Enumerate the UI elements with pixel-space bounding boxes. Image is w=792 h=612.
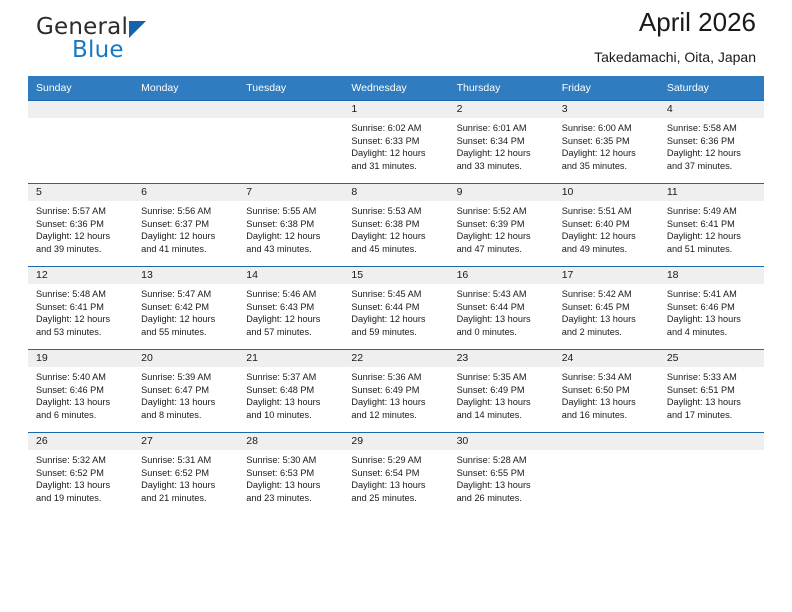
sunset-text: Sunset: 6:46 PM <box>667 301 758 314</box>
day-details: Sunrise: 5:29 AMSunset: 6:54 PMDaylight:… <box>343 450 448 504</box>
daylight-text-line2: and 37 minutes. <box>667 160 758 173</box>
daylight-text-line1: Daylight: 13 hours <box>246 396 337 409</box>
day-details: Sunrise: 5:37 AMSunset: 6:48 PMDaylight:… <box>238 367 343 421</box>
sunset-text: Sunset: 6:33 PM <box>351 135 442 148</box>
weekday-header-monday: Monday <box>133 76 238 101</box>
daylight-text-line2: and 17 minutes. <box>667 409 758 422</box>
day-number: 4 <box>659 101 764 118</box>
calendar-cell-empty <box>659 433 764 516</box>
daylight-text-line2: and 25 minutes. <box>351 492 442 505</box>
day-number <box>554 433 659 450</box>
day-number: 20 <box>133 350 238 367</box>
sunset-text: Sunset: 6:42 PM <box>141 301 232 314</box>
page-title: April 2026 <box>594 8 756 38</box>
sunrise-text: Sunrise: 5:28 AM <box>457 454 548 467</box>
calendar-week-row: 12Sunrise: 5:48 AMSunset: 6:41 PMDayligh… <box>28 267 764 350</box>
day-number: 15 <box>343 267 448 284</box>
day-details: Sunrise: 5:30 AMSunset: 6:53 PMDaylight:… <box>238 450 343 504</box>
day-details: Sunrise: 5:49 AMSunset: 6:41 PMDaylight:… <box>659 201 764 255</box>
day-details: Sunrise: 5:43 AMSunset: 6:44 PMDaylight:… <box>449 284 554 338</box>
daylight-text-line2: and 35 minutes. <box>562 160 653 173</box>
daylight-text-line1: Daylight: 12 hours <box>246 313 337 326</box>
day-number: 22 <box>343 350 448 367</box>
sunset-text: Sunset: 6:52 PM <box>36 467 127 480</box>
brand-logo: General Blue <box>36 14 246 68</box>
weekday-header-friday: Friday <box>554 76 659 101</box>
day-number: 11 <box>659 184 764 201</box>
daylight-text-line1: Daylight: 12 hours <box>562 230 653 243</box>
day-number <box>238 101 343 118</box>
daylight-text-line1: Daylight: 12 hours <box>457 230 548 243</box>
sunset-text: Sunset: 6:50 PM <box>562 384 653 397</box>
calendar-day-cell[interactable]: 23Sunrise: 5:35 AMSunset: 6:49 PMDayligh… <box>449 350 554 433</box>
calendar-week-row: 5Sunrise: 5:57 AMSunset: 6:36 PMDaylight… <box>28 184 764 267</box>
sunset-text: Sunset: 6:41 PM <box>667 218 758 231</box>
day-number: 30 <box>449 433 554 450</box>
day-details: Sunrise: 5:33 AMSunset: 6:51 PMDaylight:… <box>659 367 764 421</box>
daylight-text-line2: and 26 minutes. <box>457 492 548 505</box>
daylight-text-line1: Daylight: 12 hours <box>246 230 337 243</box>
daylight-text-line2: and 43 minutes. <box>246 243 337 256</box>
weekday-header-saturday: Saturday <box>659 76 764 101</box>
calendar-day-cell[interactable]: 19Sunrise: 5:40 AMSunset: 6:46 PMDayligh… <box>28 350 133 433</box>
daylight-text-line2: and 55 minutes. <box>141 326 232 339</box>
daylight-text-line1: Daylight: 13 hours <box>141 479 232 492</box>
sunrise-text: Sunrise: 5:39 AM <box>141 371 232 384</box>
day-details: Sunrise: 5:35 AMSunset: 6:49 PMDaylight:… <box>449 367 554 421</box>
weekday-header-tuesday: Tuesday <box>238 76 343 101</box>
daylight-text-line2: and 47 minutes. <box>457 243 548 256</box>
calendar-week-row: 1Sunrise: 6:02 AMSunset: 6:33 PMDaylight… <box>28 101 764 184</box>
calendar-day-cell[interactable]: 18Sunrise: 5:41 AMSunset: 6:46 PMDayligh… <box>659 267 764 350</box>
sunrise-text: Sunrise: 5:33 AM <box>667 371 758 384</box>
weekday-header-sunday: Sunday <box>28 76 133 101</box>
calendar-table: Sunday Monday Tuesday Wednesday Thursday… <box>28 76 764 515</box>
day-details: Sunrise: 5:58 AMSunset: 6:36 PMDaylight:… <box>659 118 764 172</box>
sunset-text: Sunset: 6:49 PM <box>351 384 442 397</box>
day-number: 5 <box>28 184 133 201</box>
daylight-text-line1: Daylight: 13 hours <box>457 396 548 409</box>
day-details: Sunrise: 5:51 AMSunset: 6:40 PMDaylight:… <box>554 201 659 255</box>
page-header: General Blue April 2026 Takedamachi, Oit… <box>28 0 764 76</box>
sunset-text: Sunset: 6:40 PM <box>562 218 653 231</box>
day-details: Sunrise: 5:40 AMSunset: 6:46 PMDaylight:… <box>28 367 133 421</box>
day-number <box>28 101 133 118</box>
day-number: 24 <box>554 350 659 367</box>
daylight-text-line2: and 14 minutes. <box>457 409 548 422</box>
daylight-text-line1: Daylight: 13 hours <box>351 396 442 409</box>
daylight-text-line1: Daylight: 13 hours <box>246 479 337 492</box>
calendar-day-cell[interactable]: 17Sunrise: 5:42 AMSunset: 6:45 PMDayligh… <box>554 267 659 350</box>
daylight-text-line1: Daylight: 12 hours <box>141 230 232 243</box>
calendar-week-row: 19Sunrise: 5:40 AMSunset: 6:46 PMDayligh… <box>28 350 764 433</box>
calendar-day-cell[interactable]: 22Sunrise: 5:36 AMSunset: 6:49 PMDayligh… <box>343 350 448 433</box>
calendar-day-cell[interactable]: 16Sunrise: 5:43 AMSunset: 6:44 PMDayligh… <box>449 267 554 350</box>
day-details: Sunrise: 5:47 AMSunset: 6:42 PMDaylight:… <box>133 284 238 338</box>
day-number: 27 <box>133 433 238 450</box>
day-number: 12 <box>28 267 133 284</box>
calendar-body: 1Sunrise: 6:02 AMSunset: 6:33 PMDaylight… <box>28 101 764 516</box>
daylight-text-line2: and 59 minutes. <box>351 326 442 339</box>
sunset-text: Sunset: 6:39 PM <box>457 218 548 231</box>
sunrise-text: Sunrise: 5:42 AM <box>562 288 653 301</box>
sunset-text: Sunset: 6:47 PM <box>141 384 232 397</box>
day-details: Sunrise: 5:46 AMSunset: 6:43 PMDaylight:… <box>238 284 343 338</box>
sunset-text: Sunset: 6:49 PM <box>457 384 548 397</box>
day-details: Sunrise: 5:28 AMSunset: 6:55 PMDaylight:… <box>449 450 554 504</box>
daylight-text-line1: Daylight: 13 hours <box>457 313 548 326</box>
daylight-text-line1: Daylight: 13 hours <box>667 396 758 409</box>
daylight-text-line2: and 39 minutes. <box>36 243 127 256</box>
calendar-day-cell[interactable]: 6Sunrise: 5:56 AMSunset: 6:37 PMDaylight… <box>133 184 238 267</box>
daylight-text-line1: Daylight: 13 hours <box>36 396 127 409</box>
calendar-day-cell[interactable]: 10Sunrise: 5:51 AMSunset: 6:40 PMDayligh… <box>554 184 659 267</box>
title-block: April 2026 Takedamachi, Oita, Japan <box>594 8 756 65</box>
calendar-day-cell[interactable]: 27Sunrise: 5:31 AMSunset: 6:52 PMDayligh… <box>133 433 238 516</box>
day-details: Sunrise: 5:48 AMSunset: 6:41 PMDaylight:… <box>28 284 133 338</box>
sunrise-text: Sunrise: 5:51 AM <box>562 205 653 218</box>
calendar-day-cell[interactable]: 15Sunrise: 5:45 AMSunset: 6:44 PMDayligh… <box>343 267 448 350</box>
sunset-text: Sunset: 6:34 PM <box>457 135 548 148</box>
daylight-text-line1: Daylight: 12 hours <box>457 147 548 160</box>
calendar-day-cell[interactable]: 5Sunrise: 5:57 AMSunset: 6:36 PMDaylight… <box>28 184 133 267</box>
calendar-day-cell[interactable]: 26Sunrise: 5:32 AMSunset: 6:52 PMDayligh… <box>28 433 133 516</box>
day-number: 6 <box>133 184 238 201</box>
day-number: 19 <box>28 350 133 367</box>
weekday-header-wednesday: Wednesday <box>343 76 448 101</box>
sunset-text: Sunset: 6:54 PM <box>351 467 442 480</box>
sunrise-text: Sunrise: 5:37 AM <box>246 371 337 384</box>
day-number <box>659 433 764 450</box>
calendar-day-cell[interactable]: 12Sunrise: 5:48 AMSunset: 6:41 PMDayligh… <box>28 267 133 350</box>
calendar-cell-empty <box>554 433 659 516</box>
day-number: 14 <box>238 267 343 284</box>
sunrise-text: Sunrise: 5:46 AM <box>246 288 337 301</box>
daylight-text-line1: Daylight: 13 hours <box>36 479 127 492</box>
sunrise-text: Sunrise: 5:40 AM <box>36 371 127 384</box>
calendar-day-cell[interactable]: 2Sunrise: 6:01 AMSunset: 6:34 PMDaylight… <box>449 101 554 184</box>
sunrise-text: Sunrise: 5:53 AM <box>351 205 442 218</box>
daylight-text-line2: and 4 minutes. <box>667 326 758 339</box>
sunrise-text: Sunrise: 6:00 AM <box>562 122 653 135</box>
daylight-text-line1: Daylight: 12 hours <box>667 230 758 243</box>
sunset-text: Sunset: 6:48 PM <box>246 384 337 397</box>
sunset-text: Sunset: 6:37 PM <box>141 218 232 231</box>
weekday-header-thursday: Thursday <box>449 76 554 101</box>
calendar-day-cell[interactable]: 30Sunrise: 5:28 AMSunset: 6:55 PMDayligh… <box>449 433 554 516</box>
day-number: 9 <box>449 184 554 201</box>
daylight-text-line2: and 21 minutes. <box>141 492 232 505</box>
daylight-text-line1: Daylight: 13 hours <box>562 396 653 409</box>
day-details: Sunrise: 6:00 AMSunset: 6:35 PMDaylight:… <box>554 118 659 172</box>
day-details: Sunrise: 5:57 AMSunset: 6:36 PMDaylight:… <box>28 201 133 255</box>
sunrise-text: Sunrise: 5:29 AM <box>351 454 442 467</box>
daylight-text-line2: and 12 minutes. <box>351 409 442 422</box>
daylight-text-line1: Daylight: 13 hours <box>667 313 758 326</box>
sunset-text: Sunset: 6:38 PM <box>351 218 442 231</box>
day-number: 16 <box>449 267 554 284</box>
day-number: 17 <box>554 267 659 284</box>
day-number: 21 <box>238 350 343 367</box>
daylight-text-line2: and 23 minutes. <box>246 492 337 505</box>
daylight-text-line2: and 6 minutes. <box>36 409 127 422</box>
sunset-text: Sunset: 6:36 PM <box>36 218 127 231</box>
calendar-day-cell[interactable]: 8Sunrise: 5:53 AMSunset: 6:38 PMDaylight… <box>343 184 448 267</box>
day-number: 8 <box>343 184 448 201</box>
sunrise-text: Sunrise: 5:49 AM <box>667 205 758 218</box>
sunrise-text: Sunrise: 5:43 AM <box>457 288 548 301</box>
sunset-text: Sunset: 6:51 PM <box>667 384 758 397</box>
calendar-day-cell[interactable]: 20Sunrise: 5:39 AMSunset: 6:47 PMDayligh… <box>133 350 238 433</box>
day-number: 28 <box>238 433 343 450</box>
daylight-text-line2: and 0 minutes. <box>457 326 548 339</box>
daylight-text-line1: Daylight: 12 hours <box>667 147 758 160</box>
sunset-text: Sunset: 6:44 PM <box>351 301 442 314</box>
triangle-icon <box>129 21 146 38</box>
day-number: 18 <box>659 267 764 284</box>
calendar-day-cell[interactable]: 4Sunrise: 5:58 AMSunset: 6:36 PMDaylight… <box>659 101 764 184</box>
day-number <box>133 101 238 118</box>
calendar-cell-empty <box>28 101 133 184</box>
daylight-text-line1: Daylight: 12 hours <box>36 230 127 243</box>
daylight-text-line2: and 16 minutes. <box>562 409 653 422</box>
sunrise-text: Sunrise: 6:02 AM <box>351 122 442 135</box>
sunset-text: Sunset: 6:46 PM <box>36 384 127 397</box>
sunrise-text: Sunrise: 5:30 AM <box>246 454 337 467</box>
daylight-text-line1: Daylight: 12 hours <box>36 313 127 326</box>
calendar-day-cell[interactable]: 28Sunrise: 5:30 AMSunset: 6:53 PMDayligh… <box>238 433 343 516</box>
sunrise-text: Sunrise: 6:01 AM <box>457 122 548 135</box>
daylight-text-line2: and 33 minutes. <box>457 160 548 173</box>
calendar-day-cell[interactable]: 3Sunrise: 6:00 AMSunset: 6:35 PMDaylight… <box>554 101 659 184</box>
calendar-day-cell[interactable]: 11Sunrise: 5:49 AMSunset: 6:41 PMDayligh… <box>659 184 764 267</box>
daylight-text-line1: Daylight: 12 hours <box>351 147 442 160</box>
calendar-day-cell[interactable]: 25Sunrise: 5:33 AMSunset: 6:51 PMDayligh… <box>659 350 764 433</box>
calendar-cell-empty <box>238 101 343 184</box>
daylight-text-line2: and 10 minutes. <box>246 409 337 422</box>
sunset-text: Sunset: 6:41 PM <box>36 301 127 314</box>
day-details: Sunrise: 6:02 AMSunset: 6:33 PMDaylight:… <box>343 118 448 172</box>
daylight-text-line1: Daylight: 13 hours <box>351 479 442 492</box>
daylight-text-line2: and 2 minutes. <box>562 326 653 339</box>
day-details: Sunrise: 5:36 AMSunset: 6:49 PMDaylight:… <box>343 367 448 421</box>
day-details: Sunrise: 5:34 AMSunset: 6:50 PMDaylight:… <box>554 367 659 421</box>
sunrise-text: Sunrise: 5:48 AM <box>36 288 127 301</box>
day-number: 25 <box>659 350 764 367</box>
daylight-text-line1: Daylight: 12 hours <box>562 147 653 160</box>
day-details: Sunrise: 5:56 AMSunset: 6:37 PMDaylight:… <box>133 201 238 255</box>
weekday-header-row: Sunday Monday Tuesday Wednesday Thursday… <box>28 76 764 101</box>
sunrise-text: Sunrise: 5:45 AM <box>351 288 442 301</box>
day-details: Sunrise: 5:39 AMSunset: 6:47 PMDaylight:… <box>133 367 238 421</box>
calendar-day-cell[interactable]: 7Sunrise: 5:55 AMSunset: 6:38 PMDaylight… <box>238 184 343 267</box>
sunrise-text: Sunrise: 5:47 AM <box>141 288 232 301</box>
daylight-text-line1: Daylight: 12 hours <box>351 230 442 243</box>
daylight-text-line2: and 8 minutes. <box>141 409 232 422</box>
day-details: Sunrise: 5:42 AMSunset: 6:45 PMDaylight:… <box>554 284 659 338</box>
day-number: 2 <box>449 101 554 118</box>
day-number: 7 <box>238 184 343 201</box>
day-details: Sunrise: 5:31 AMSunset: 6:52 PMDaylight:… <box>133 450 238 504</box>
day-number: 3 <box>554 101 659 118</box>
calendar-day-cell[interactable]: 9Sunrise: 5:52 AMSunset: 6:39 PMDaylight… <box>449 184 554 267</box>
sunrise-text: Sunrise: 5:34 AM <box>562 371 653 384</box>
sunset-text: Sunset: 6:38 PM <box>246 218 337 231</box>
daylight-text-line2: and 19 minutes. <box>36 492 127 505</box>
daylight-text-line2: and 31 minutes. <box>351 160 442 173</box>
sunrise-text: Sunrise: 5:35 AM <box>457 371 548 384</box>
sunset-text: Sunset: 6:55 PM <box>457 467 548 480</box>
sunrise-text: Sunrise: 5:58 AM <box>667 122 758 135</box>
day-number: 13 <box>133 267 238 284</box>
calendar-page: General Blue April 2026 Takedamachi, Oit… <box>0 0 792 612</box>
calendar-day-cell[interactable]: 24Sunrise: 5:34 AMSunset: 6:50 PMDayligh… <box>554 350 659 433</box>
calendar-day-cell[interactable]: 14Sunrise: 5:46 AMSunset: 6:43 PMDayligh… <box>238 267 343 350</box>
sunrise-text: Sunrise: 5:55 AM <box>246 205 337 218</box>
sunrise-text: Sunrise: 5:52 AM <box>457 205 548 218</box>
day-details: Sunrise: 5:41 AMSunset: 6:46 PMDaylight:… <box>659 284 764 338</box>
daylight-text-line2: and 49 minutes. <box>562 243 653 256</box>
sunset-text: Sunset: 6:44 PM <box>457 301 548 314</box>
brand-name-blue: Blue <box>72 37 124 63</box>
daylight-text-line1: Daylight: 13 hours <box>562 313 653 326</box>
day-details: Sunrise: 5:53 AMSunset: 6:38 PMDaylight:… <box>343 201 448 255</box>
calendar-day-cell[interactable]: 21Sunrise: 5:37 AMSunset: 6:48 PMDayligh… <box>238 350 343 433</box>
daylight-text-line2: and 51 minutes. <box>667 243 758 256</box>
sunset-text: Sunset: 6:35 PM <box>562 135 653 148</box>
calendar-cell-empty <box>133 101 238 184</box>
day-details: Sunrise: 5:45 AMSunset: 6:44 PMDaylight:… <box>343 284 448 338</box>
daylight-text-line2: and 57 minutes. <box>246 326 337 339</box>
calendar-day-cell[interactable]: 1Sunrise: 6:02 AMSunset: 6:33 PMDaylight… <box>343 101 448 184</box>
daylight-text-line2: and 45 minutes. <box>351 243 442 256</box>
sunrise-text: Sunrise: 5:36 AM <box>351 371 442 384</box>
sunrise-text: Sunrise: 5:57 AM <box>36 205 127 218</box>
daylight-text-line1: Daylight: 13 hours <box>457 479 548 492</box>
daylight-text-line1: Daylight: 12 hours <box>351 313 442 326</box>
sunset-text: Sunset: 6:45 PM <box>562 301 653 314</box>
calendar-week-row: 26Sunrise: 5:32 AMSunset: 6:52 PMDayligh… <box>28 433 764 516</box>
day-number: 26 <box>28 433 133 450</box>
daylight-text-line2: and 41 minutes. <box>141 243 232 256</box>
sunrise-text: Sunrise: 5:32 AM <box>36 454 127 467</box>
day-details: Sunrise: 5:52 AMSunset: 6:39 PMDaylight:… <box>449 201 554 255</box>
day-number: 23 <box>449 350 554 367</box>
calendar-day-cell[interactable]: 29Sunrise: 5:29 AMSunset: 6:54 PMDayligh… <box>343 433 448 516</box>
daylight-text-line1: Daylight: 12 hours <box>141 313 232 326</box>
sunrise-text: Sunrise: 5:56 AM <box>141 205 232 218</box>
day-details: Sunrise: 5:55 AMSunset: 6:38 PMDaylight:… <box>238 201 343 255</box>
day-number: 10 <box>554 184 659 201</box>
sunrise-text: Sunrise: 5:41 AM <box>667 288 758 301</box>
calendar-day-cell[interactable]: 13Sunrise: 5:47 AMSunset: 6:42 PMDayligh… <box>133 267 238 350</box>
sunset-text: Sunset: 6:43 PM <box>246 301 337 314</box>
day-number: 29 <box>343 433 448 450</box>
sunset-text: Sunset: 6:36 PM <box>667 135 758 148</box>
sunrise-text: Sunrise: 5:31 AM <box>141 454 232 467</box>
sunset-text: Sunset: 6:53 PM <box>246 467 337 480</box>
sunset-text: Sunset: 6:52 PM <box>141 467 232 480</box>
day-details: Sunrise: 5:32 AMSunset: 6:52 PMDaylight:… <box>28 450 133 504</box>
daylight-text-line2: and 53 minutes. <box>36 326 127 339</box>
daylight-text-line1: Daylight: 13 hours <box>141 396 232 409</box>
day-details: Sunrise: 6:01 AMSunset: 6:34 PMDaylight:… <box>449 118 554 172</box>
location-subtitle: Takedamachi, Oita, Japan <box>594 49 756 65</box>
day-number: 1 <box>343 101 448 118</box>
